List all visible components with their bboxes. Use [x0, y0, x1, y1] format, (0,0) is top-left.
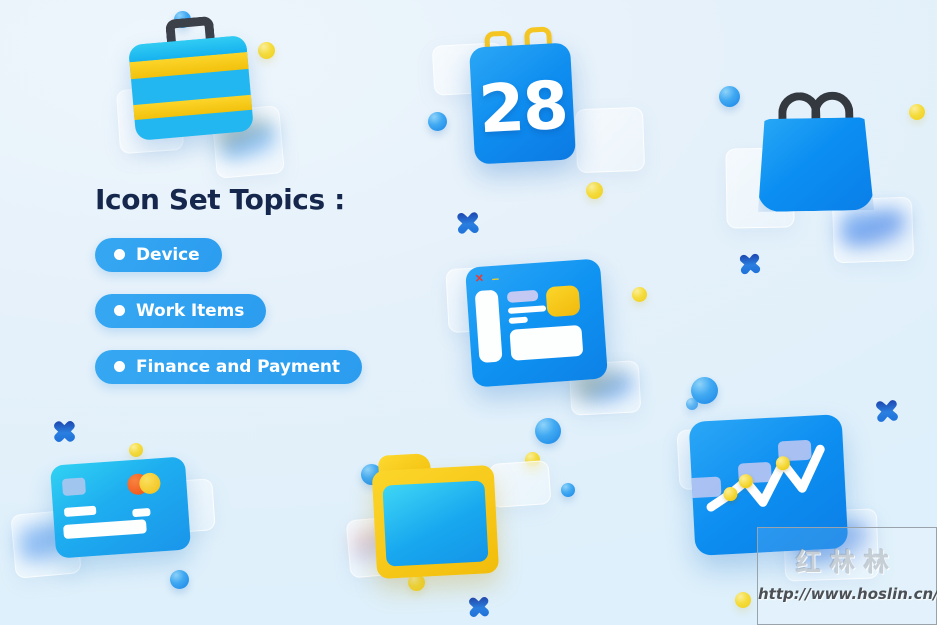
decor-cross-icon: [733, 247, 767, 281]
decor-sphere-blue: [535, 418, 561, 444]
decor-sphere-blue: [170, 570, 189, 589]
card-stripe: [132, 508, 151, 517]
canvas: 28 ✕ –: [0, 0, 937, 625]
bullet-icon: [114, 361, 125, 372]
decor-cross-icon: [450, 205, 487, 242]
title-bar: [507, 290, 539, 303]
decor-sphere-blue: [561, 483, 575, 497]
calendar-icon: 28: [469, 42, 576, 164]
card-body: [50, 456, 191, 558]
card-stripe: [64, 506, 97, 517]
decor-sphere-yellow: [909, 104, 925, 120]
topic-row: Device: [95, 216, 362, 272]
browser-window-icon: ✕ –: [465, 258, 608, 387]
credit-card-icon: [50, 456, 191, 558]
folder-icon: [371, 450, 499, 579]
decor-cross-icon: [47, 414, 82, 449]
glass-panel: [575, 107, 645, 173]
page-title: Icon Set Topics :: [95, 183, 362, 216]
watermark-brand: 红林林: [758, 543, 936, 579]
topic-row: Work Items: [95, 272, 362, 328]
browser-body: ✕ –: [465, 258, 608, 387]
text-line: [509, 317, 528, 324]
sidebar-panel: [475, 290, 503, 363]
suitcase-stripe: [129, 94, 254, 120]
decor-sphere-yellow: [632, 287, 647, 302]
bullet-icon: [114, 249, 125, 260]
shopping-bag-icon: [756, 91, 874, 212]
decor-sphere-blue: [686, 398, 698, 410]
watermark-url: http://www.hoslin.cn/: [758, 585, 936, 603]
bag-body: [756, 117, 874, 212]
decor-cross-icon: [462, 590, 496, 624]
folder-front: [382, 480, 489, 566]
card-number-strip: [63, 519, 147, 539]
topic-pill-device[interactable]: Device: [95, 238, 222, 272]
mastercard-right-circle: [139, 472, 161, 494]
suitcase-icon: [128, 35, 254, 141]
topic-pill-finance-and-payment[interactable]: Finance and Payment: [95, 350, 362, 384]
decor-sphere-yellow: [258, 42, 275, 59]
suitcase-body: [128, 35, 254, 141]
highlight-block: [546, 285, 581, 317]
decor-sphere-blue: [428, 112, 447, 131]
card-chip: [62, 477, 86, 496]
decor-cross-icon: [869, 393, 906, 430]
calendar-day: 28: [477, 67, 569, 148]
glass-panel: [489, 460, 552, 508]
decor-sphere-yellow: [735, 592, 751, 608]
content-panel: [509, 325, 583, 361]
bullet-icon: [114, 305, 125, 316]
topic-row: Finance and Payment: [95, 328, 362, 384]
decor-sphere-blue: [719, 86, 740, 107]
decor-sphere-yellow: [586, 182, 603, 199]
close-icon[interactable]: ✕: [474, 274, 484, 286]
minimize-icon[interactable]: –: [491, 272, 499, 285]
decor-sphere-yellow: [129, 443, 143, 457]
text-block: Icon Set Topics : Device Work Items Fina…: [95, 183, 362, 384]
watermark: 红林林 http://www.hoslin.cn/: [757, 527, 937, 625]
topic-pill-work-items[interactable]: Work Items: [95, 294, 266, 328]
calendar-body: 28: [469, 42, 576, 164]
text-line: [508, 305, 546, 314]
